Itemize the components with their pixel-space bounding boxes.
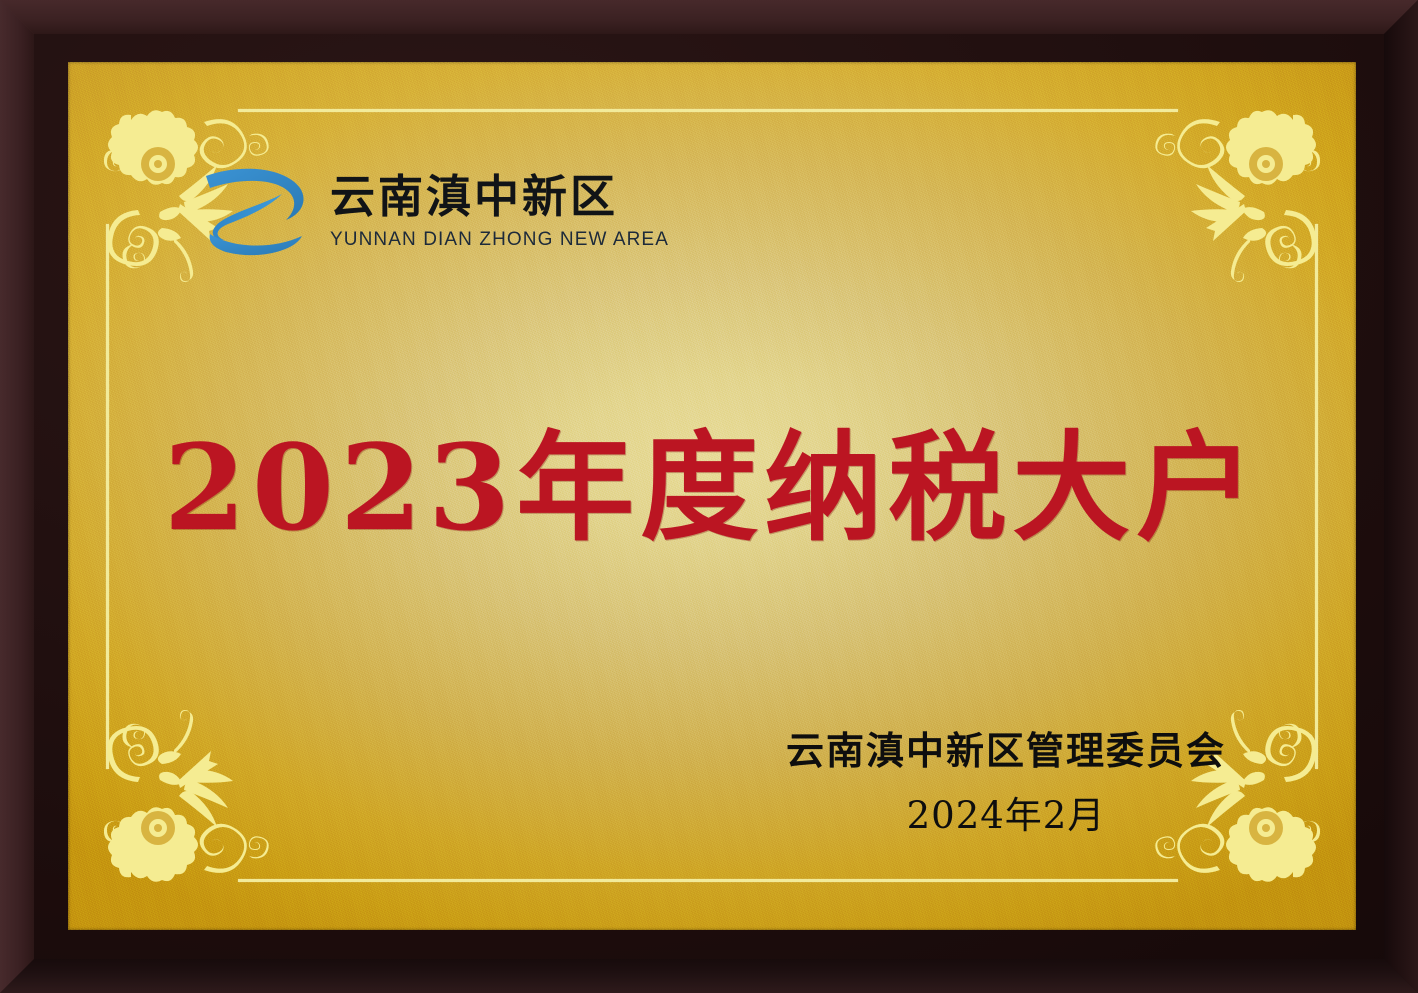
- frame-bevel-top: [0, 0, 1418, 34]
- signature-block: 云南滇中新区管理委员会 2024年2月: [786, 727, 1226, 839]
- issue-date: 2024年2月: [786, 785, 1226, 839]
- frame-bevel-bottom: [0, 959, 1418, 993]
- corner-ornament-bottom-left-icon: [86, 710, 286, 900]
- border-rule-top: [238, 109, 1178, 112]
- logo-title-english: YUNNAN DIAN ZHONG NEW AREA: [330, 229, 669, 251]
- organization-logo: 云南滇中新区 YUNNAN DIAN ZHONG NEW AREA: [198, 162, 669, 262]
- issuing-authority: 云南滇中新区管理委员会: [786, 727, 1226, 775]
- plaque-wooden-frame: 云南滇中新区 YUNNAN DIAN ZHONG NEW AREA 2023年度…: [0, 0, 1418, 993]
- frame-bevel-right: [1384, 0, 1418, 993]
- frame-bevel-left: [0, 0, 34, 993]
- award-title: 2023年度纳税大户: [68, 392, 1356, 563]
- border-rule-bottom: [238, 879, 1178, 882]
- corner-ornament-top-right-icon: [1138, 92, 1338, 282]
- yunnan-dianzhong-swoosh-logo-icon: [198, 162, 316, 262]
- logo-title-chinese: 云南滇中新区: [330, 173, 669, 222]
- logo-text-block: 云南滇中新区 YUNNAN DIAN ZHONG NEW AREA: [330, 173, 669, 251]
- gold-award-plate: 云南滇中新区 YUNNAN DIAN ZHONG NEW AREA 2023年度…: [68, 62, 1356, 930]
